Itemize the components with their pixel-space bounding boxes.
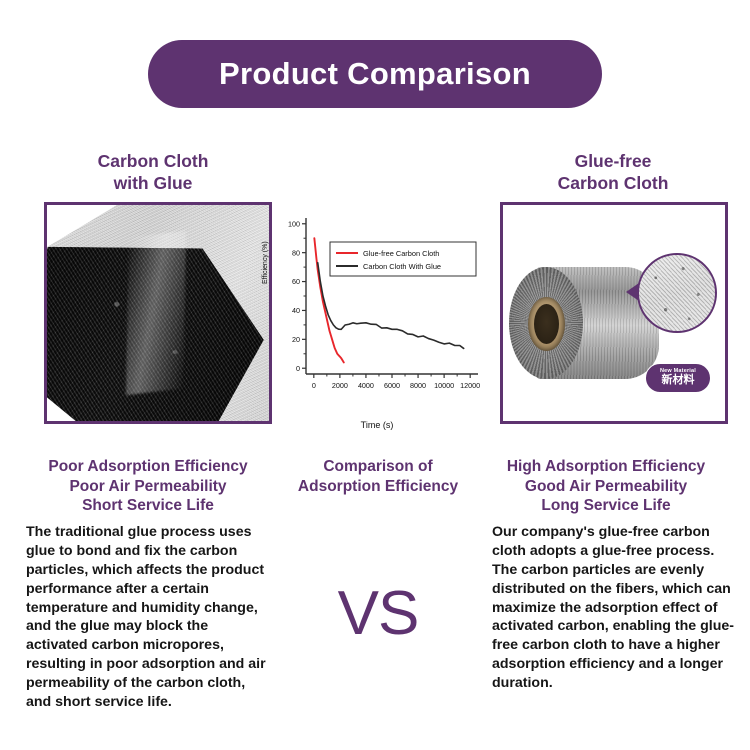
chart-y-tick-label: 80 xyxy=(292,248,300,257)
chart-legend-label-2: Carbon Cloth With Glue xyxy=(363,262,441,271)
right-body-text: Our company's glue-free carbon cloth ado… xyxy=(492,523,736,693)
glue-free-carbon-cloth-roll-photo: New Material 新材料 xyxy=(503,205,725,421)
chart-x-tick-label: 8000 xyxy=(410,381,426,390)
left-product-image xyxy=(44,202,272,424)
magnified-fiber-inset xyxy=(637,253,717,333)
left-body-text: The traditional glue process uses glue t… xyxy=(26,523,270,712)
chart-x-tick-label: 4000 xyxy=(358,381,374,390)
chart-y-tick-label: 40 xyxy=(292,306,300,315)
chart-legend-label-1: Glue-free Carbon Cloth xyxy=(363,249,439,258)
left-column-heading: Carbon Clothwith Glue xyxy=(38,150,268,195)
vs-label: VS xyxy=(283,578,473,649)
chart-y-tick-label: 20 xyxy=(292,335,300,344)
new-material-badge: New Material 新材料 xyxy=(645,363,711,393)
roll-core-hole xyxy=(534,304,559,344)
chart-x-tick-label: 12000 xyxy=(460,381,480,390)
chart-x-tick-label: 2000 xyxy=(332,381,348,390)
right-column-heading: Glue-freeCarbon Cloth xyxy=(498,150,728,195)
chart-x-tick-label: 10000 xyxy=(434,381,454,390)
chart-y-tick-label: 100 xyxy=(288,219,300,228)
chart-x-tick-label: 6000 xyxy=(384,381,400,390)
center-caption: Comparison ofAdsorption Efficiency xyxy=(283,457,473,496)
infographic-page: Product Comparison Carbon Clothwith Glue… xyxy=(0,0,750,750)
left-feature-list: Poor Adsorption EfficiencyPoor Air Perme… xyxy=(22,457,274,516)
badge-chinese-label: 新材料 xyxy=(662,375,695,387)
right-feature-list: High Adsorption EfficiencyGood Air Perme… xyxy=(480,457,732,516)
right-product-image: New Material 新材料 xyxy=(500,202,728,424)
chart-y-tick-label: 60 xyxy=(292,277,300,286)
photo-sheen xyxy=(126,231,186,395)
title-banner: Product Comparison xyxy=(148,40,602,108)
carbon-cloth-with-glue-photo xyxy=(47,205,269,421)
chart-y-tick-label: 0 xyxy=(296,364,300,373)
chart-x-tick-label: 0 xyxy=(312,381,316,390)
chart-legend-box xyxy=(330,242,476,276)
efficiency-comparison-chart: Efficiency (%) 0204060801000200040006000… xyxy=(268,206,486,438)
page-title: Product Comparison xyxy=(219,56,531,92)
chart-x-axis-label: Time (s) xyxy=(268,420,486,430)
chart-plot-area: 020406080100020004000600080001000012000G… xyxy=(268,206,486,418)
photo-corner-top-left xyxy=(44,202,131,253)
